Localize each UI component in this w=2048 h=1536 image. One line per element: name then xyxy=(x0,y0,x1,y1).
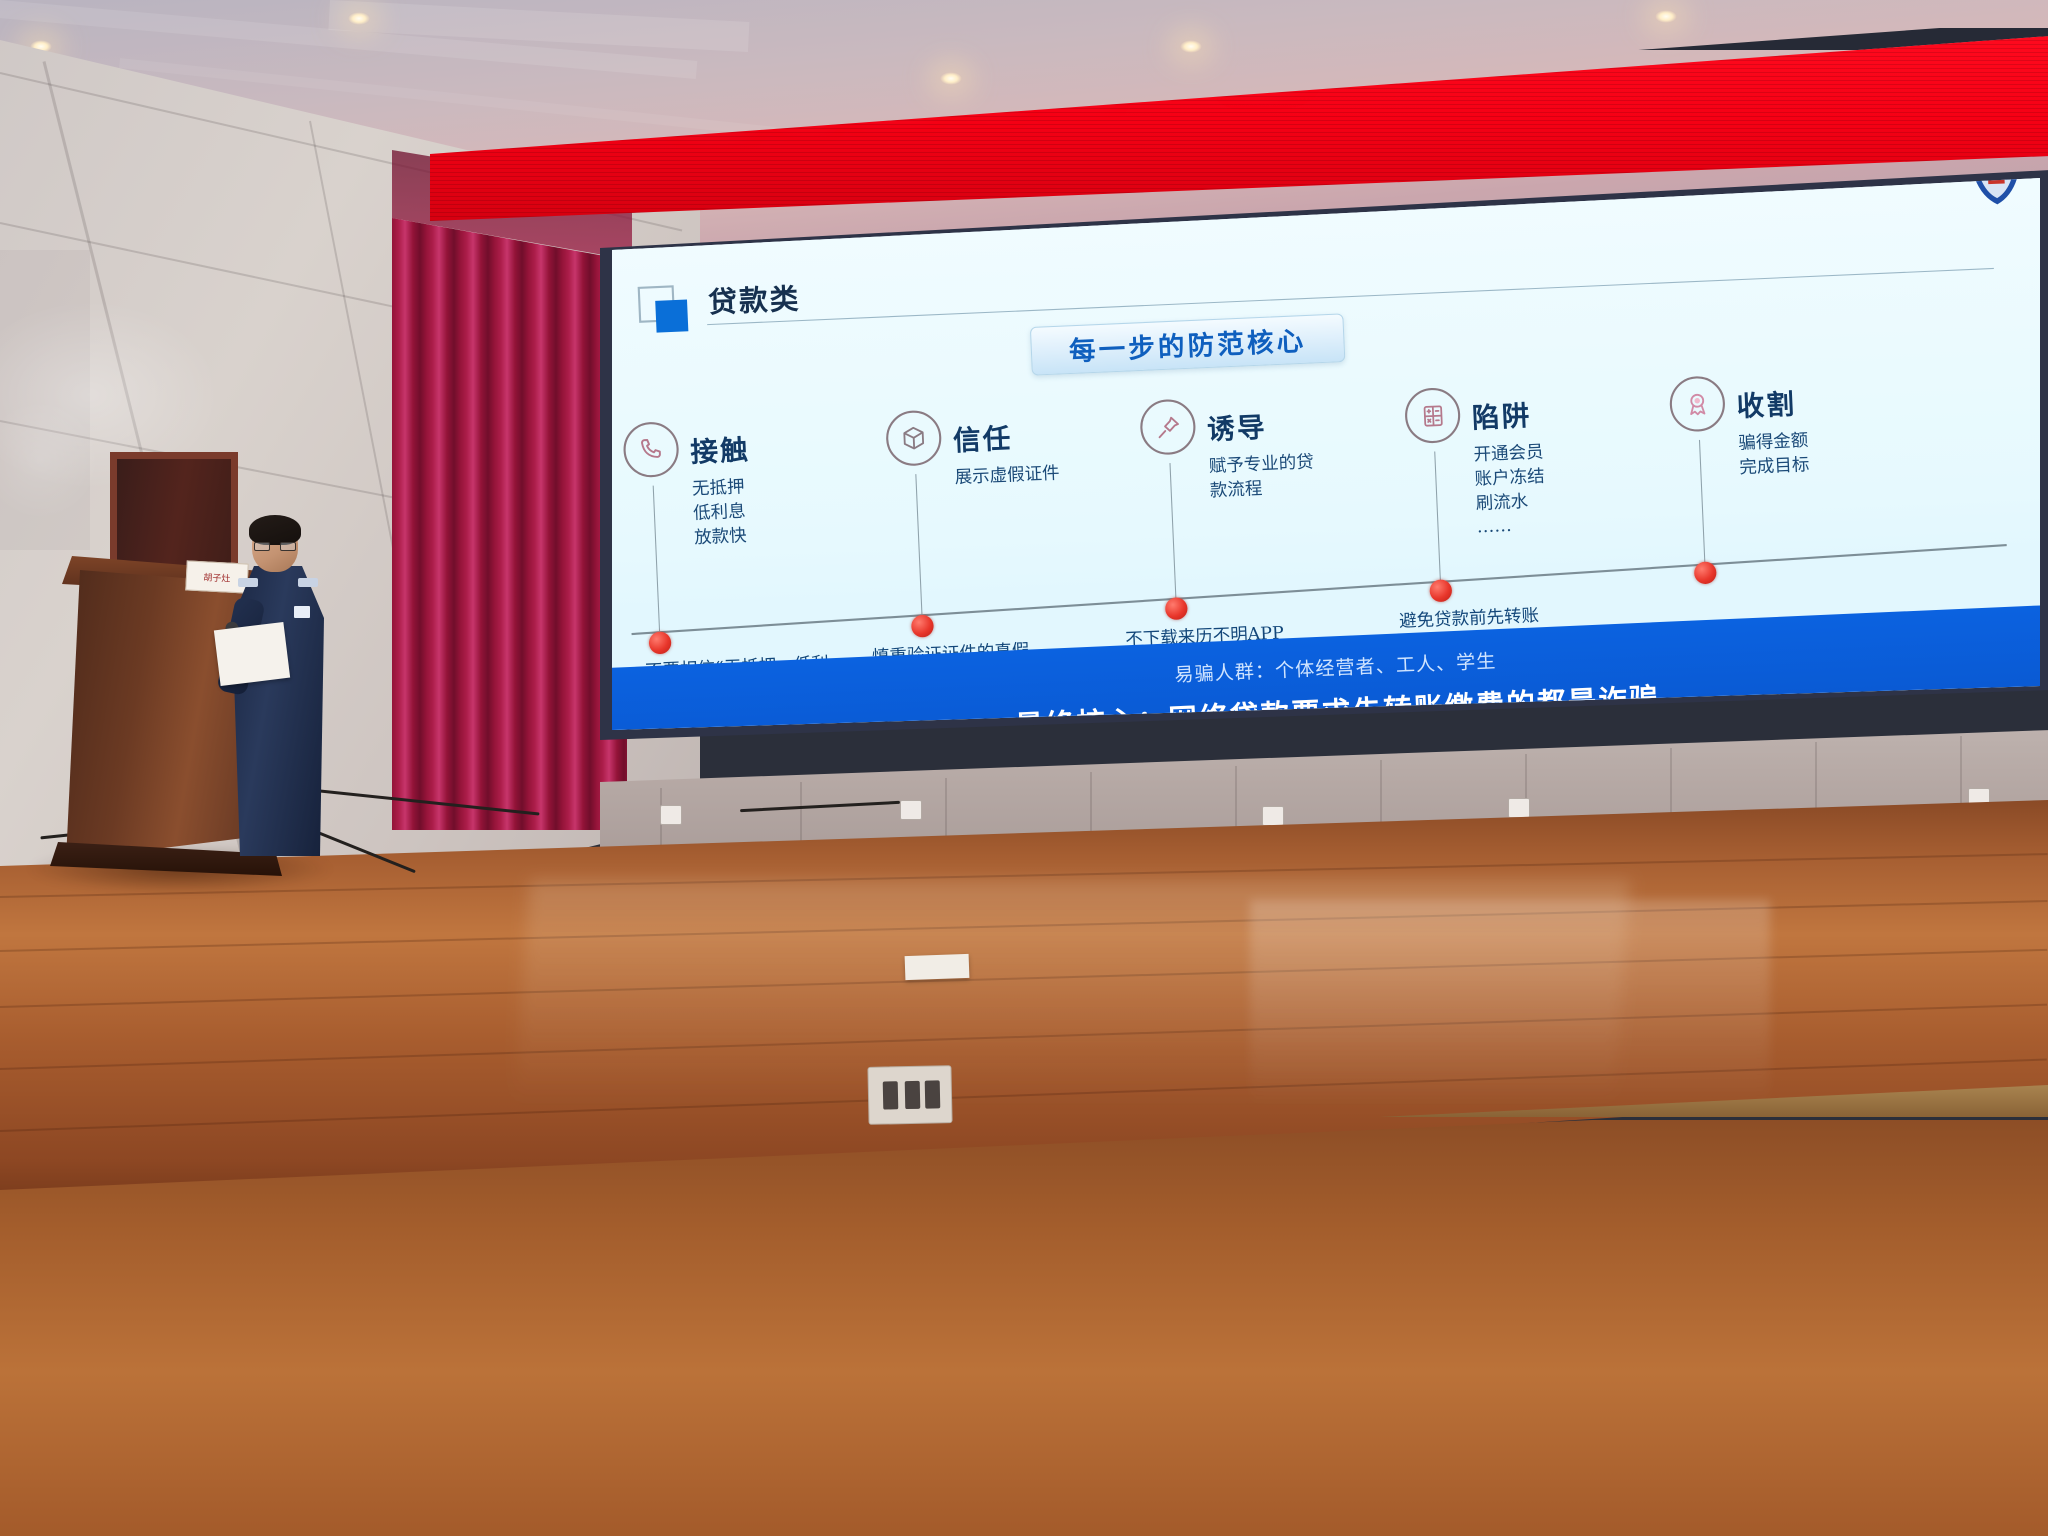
projection-screen[interactable]: 贷款类 每一步的防范核心 接触 无抵押 低利息 放 xyxy=(612,174,2040,730)
stage-front-panel xyxy=(0,1120,2048,1536)
nameplate-text: 胡子灶 xyxy=(203,570,231,584)
banner-line-1: 易骗人群：个体经营者、工人、学生 xyxy=(1174,646,1497,688)
section-pill: 每一步的防范核心 xyxy=(1030,313,1346,375)
presenter-hair xyxy=(249,515,301,545)
lecture-hall-scene: 辅导员每月一课 贷款类 每一步的防 xyxy=(0,0,2048,1536)
slide-title: 贷款类 xyxy=(707,276,801,321)
step-item-2: 信任 展示虚假证件 xyxy=(885,400,1153,493)
step-item-3: 诱导 赋予专业的贷 款流程 xyxy=(1139,389,1408,506)
step-desc-5: 骗得金额 完成目标 xyxy=(1738,423,1938,480)
section-pill-label: 每一步的防范核心 xyxy=(1068,320,1307,368)
wall-socket xyxy=(1508,798,1530,818)
step-item-5: 收割 骗得金额 完成目标 xyxy=(1669,366,1938,483)
presenter-notes xyxy=(214,622,290,686)
ceiling-light xyxy=(1655,10,1677,23)
step-item-1: 接触 无抵押 低利息 放款快 xyxy=(622,412,892,553)
step-desc-3: 赋予专业的贷 款流程 xyxy=(1208,446,1408,503)
step-desc-4: 开通会员 账户冻结 刷流水 …… xyxy=(1473,435,1675,540)
shoulder-board xyxy=(298,578,318,587)
ceiling-light xyxy=(1180,40,1202,53)
floor-gloss xyxy=(1250,900,1770,1110)
timeline-dot-1 xyxy=(648,631,671,654)
glasses-icon xyxy=(254,542,296,551)
wall-socket xyxy=(660,805,682,825)
step-title-5: 收割 xyxy=(1735,372,1796,424)
shoulder-board xyxy=(238,578,258,587)
step-note-5 xyxy=(1595,583,1870,595)
wall-socket xyxy=(900,800,922,820)
header-square-fill-icon xyxy=(655,300,688,333)
step-title-4: 陷阱 xyxy=(1471,384,1532,436)
stage-front-socket xyxy=(867,1065,952,1125)
timeline-dot-4 xyxy=(1429,579,1452,602)
pin-icon xyxy=(1139,398,1196,455)
presentation-slide: 贷款类 每一步的防范核心 接触 无抵押 低利息 放 xyxy=(612,174,2040,730)
step-connector-2 xyxy=(915,474,923,624)
box-icon xyxy=(885,409,942,466)
paper-on-floor xyxy=(905,954,970,980)
step-title-3: 诱导 xyxy=(1206,395,1267,447)
timeline-dot-2 xyxy=(911,615,934,638)
header-divider xyxy=(707,268,1994,325)
step-item-4: 陷阱 开通会员 账户冻结 刷流水 …… xyxy=(1404,378,1675,543)
presenter xyxy=(232,520,324,850)
phone-icon xyxy=(622,421,679,478)
ceiling-light xyxy=(348,12,370,25)
timeline-dot-3 xyxy=(1165,597,1188,620)
timeline-dot-5 xyxy=(1694,561,1717,584)
ribbon-award-icon xyxy=(1669,375,1726,432)
wall-socket xyxy=(1262,806,1284,826)
step-title-1: 接触 xyxy=(689,418,750,470)
ceiling-light xyxy=(940,72,962,85)
step-title-2: 信任 xyxy=(952,406,1013,458)
step-desc-1: 无抵押 低利息 放款快 xyxy=(692,469,893,550)
calculator-icon xyxy=(1404,387,1461,444)
chest-badge xyxy=(294,606,310,618)
